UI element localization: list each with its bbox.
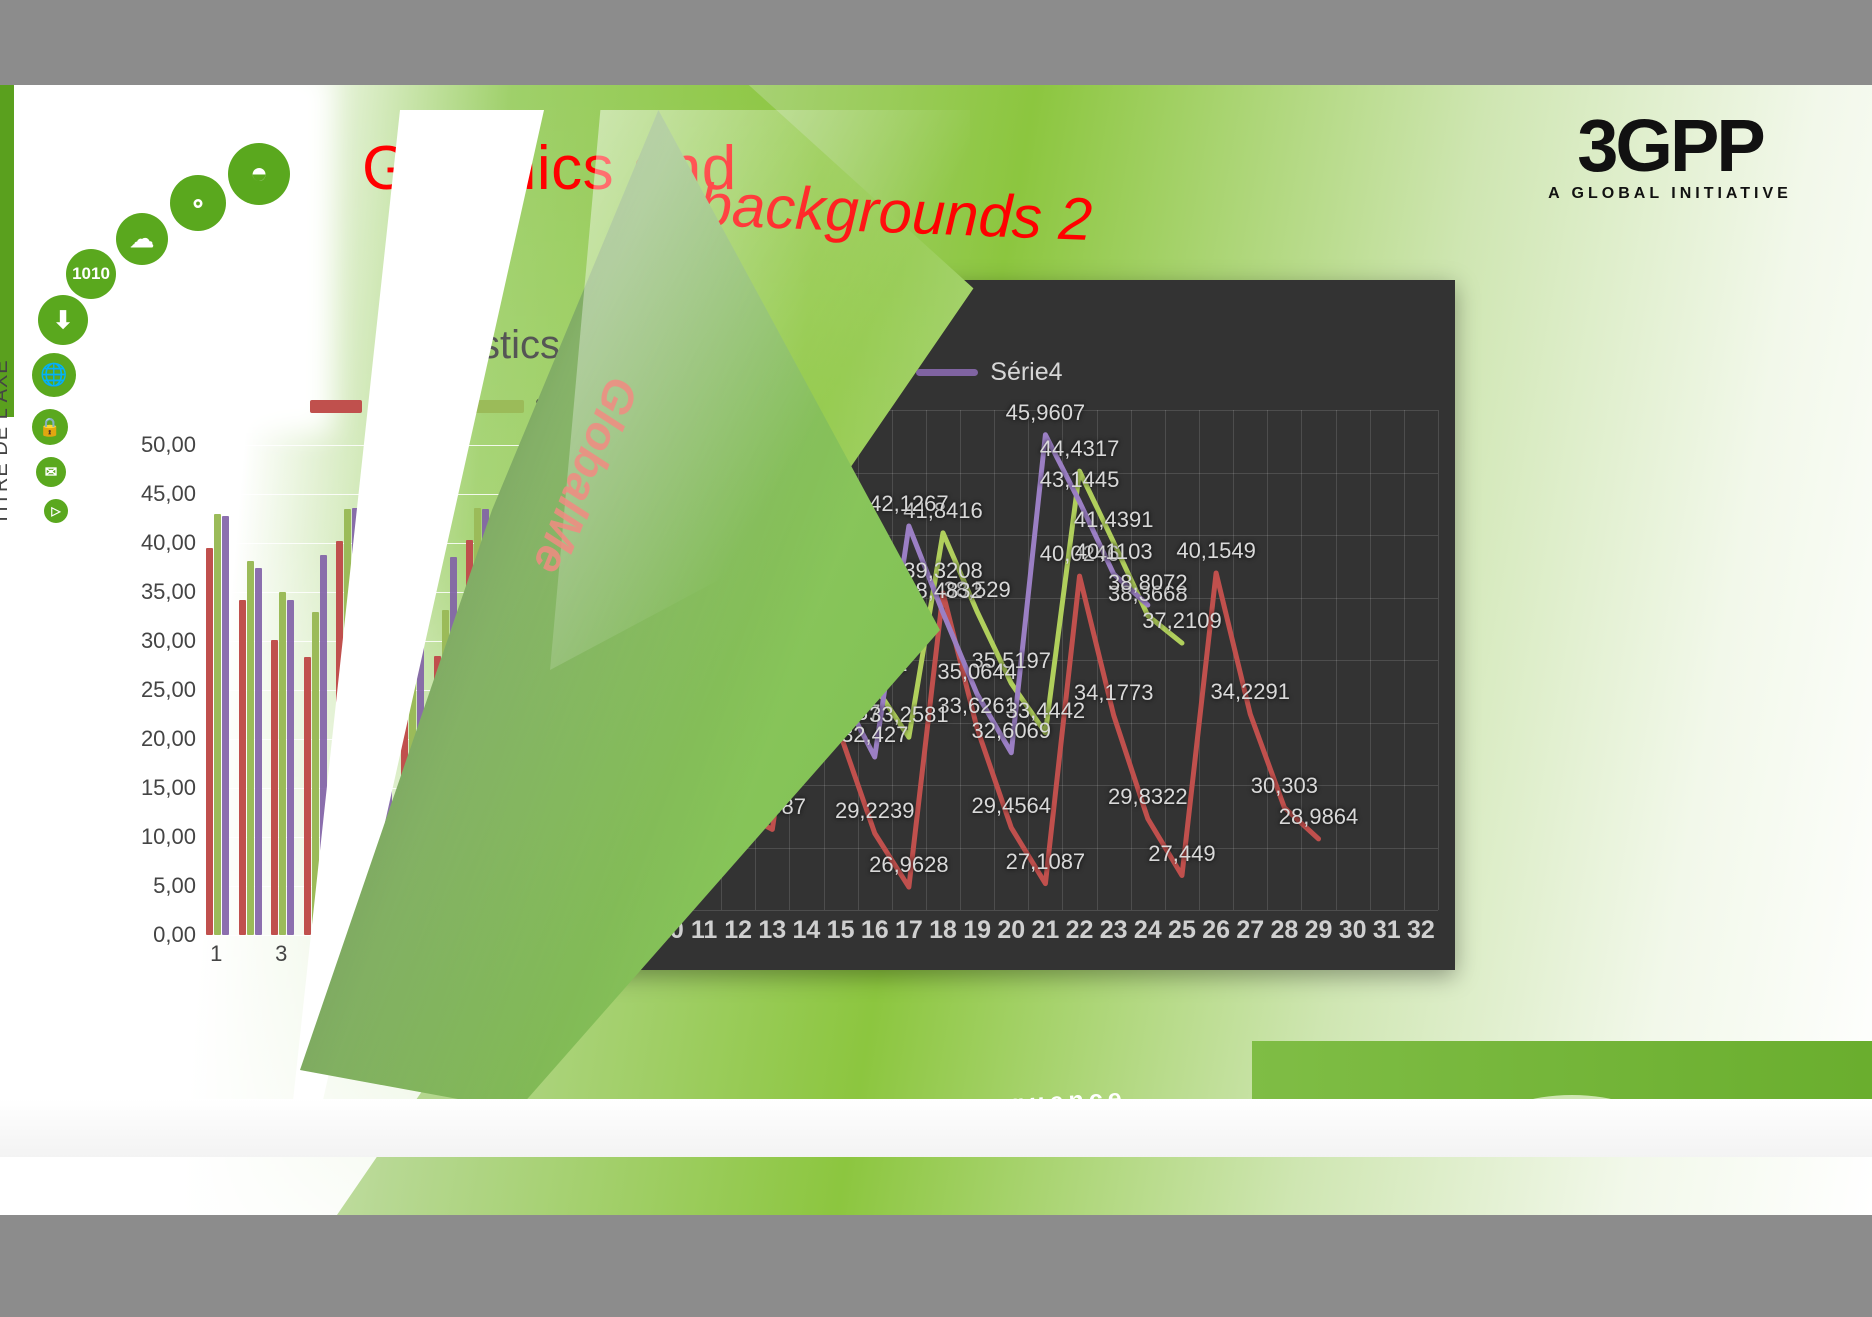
chart-bar xyxy=(336,541,343,935)
chart-bar xyxy=(466,540,473,935)
dark-chart-x-axis: 4567891011121314151617181920212223242526… xyxy=(448,916,1438,956)
chart-bar xyxy=(417,597,424,935)
chart-bar xyxy=(515,561,522,935)
light-chart-y-tick: 30,00 xyxy=(141,628,196,654)
chart-data-label: 41,4391 xyxy=(1074,507,1154,533)
presentation-slide: ◓ ∘ ☁ 1010 ⬇ 🌐 🔒 ✉ ▷ Statistics Série2 xyxy=(0,85,1872,1215)
chart-bar xyxy=(450,557,457,935)
chart-bar xyxy=(352,508,359,935)
chart-bar xyxy=(531,632,538,935)
chart-bar xyxy=(271,640,278,935)
chart-bar xyxy=(377,559,384,935)
light-chart-y-tick: 45,00 xyxy=(141,481,196,507)
chart-bar xyxy=(222,516,229,935)
mail-icon: ✉ xyxy=(36,457,66,487)
chart-data-label: 29,8322 xyxy=(1108,784,1188,810)
legend-label-serie2: Série2 xyxy=(372,393,438,420)
dark-chart-x-tick: 10 xyxy=(656,916,684,945)
dark-chart-x-tick: 21 xyxy=(1032,916,1060,945)
dark-chart-x-tick: 18 xyxy=(929,916,957,945)
light-chart-y-tick: 35,00 xyxy=(141,579,196,605)
wifi-icon: ◓ xyxy=(228,143,290,205)
chart-data-label: 40,1103 xyxy=(1075,539,1153,565)
chart-bar xyxy=(499,592,506,935)
chart-bar xyxy=(206,548,213,935)
dark-chart-x-tick: 25 xyxy=(1168,916,1196,945)
chart-data-label: 35,1907 xyxy=(801,656,881,682)
legend-label-serie3: Série3 xyxy=(534,393,600,420)
dark-chart-x-tick: 12 xyxy=(724,916,752,945)
legend-item-serie4 xyxy=(635,402,687,412)
chart-bar xyxy=(247,561,254,935)
chart-bar xyxy=(312,612,319,935)
chart-bar xyxy=(304,657,311,935)
chart-bar xyxy=(344,509,351,935)
legend-swatch-serie3 xyxy=(472,400,524,413)
chart-bar xyxy=(279,592,286,935)
share-icon: ∘ xyxy=(170,175,226,231)
chart-data-label: 44,4317 xyxy=(1040,436,1120,462)
dark-chart-x-tick: 31 xyxy=(1373,916,1401,945)
screenshot-stage: ◓ ∘ ☁ 1010 ⬇ 🌐 🔒 ✉ ▷ Statistics Série2 xyxy=(0,0,1872,1317)
legend-label-serie4: Série4 xyxy=(990,358,1062,387)
chart-bar xyxy=(539,589,546,935)
light-chart-title: Statistics xyxy=(400,323,560,368)
chart-bar xyxy=(507,558,514,935)
chart-data-label: 35,0644 xyxy=(937,659,1017,685)
chart-bar xyxy=(434,656,441,935)
light-chart-y-tick: 40,00 xyxy=(141,530,196,556)
dark-chart-x-tick: 23 xyxy=(1100,916,1128,945)
chart-data-label: 34,2291 xyxy=(1210,679,1290,705)
dark-chart-x-tick: 30 xyxy=(1339,916,1367,945)
dark-chart-x-tick: 7 xyxy=(561,916,575,945)
chart-data-label: 30,303 xyxy=(1251,773,1318,799)
chart-data-label: 32,341 xyxy=(705,724,772,750)
cloud-icon: ☁ xyxy=(116,213,168,265)
chart-bar xyxy=(239,600,246,935)
light-chart-y-tick: 15,00 xyxy=(141,775,196,801)
send-icon: ▷ xyxy=(44,499,68,523)
download-icon: ⬇ xyxy=(38,295,88,345)
chart-bar xyxy=(385,563,392,935)
gridline xyxy=(1438,410,1439,910)
slide-footer: 3GPP SA4- 2020 Scr een content source se… xyxy=(0,1099,1872,1157)
chart-data-label: 45,9607 xyxy=(1006,400,1086,426)
light-chart-x-tick: 7 xyxy=(405,941,417,967)
dark-chart-x-tick: 29 xyxy=(1305,916,1333,945)
chart-data-label: 38,8072 xyxy=(1108,570,1188,596)
dark-chart-x-tick: 19 xyxy=(963,916,991,945)
chart-bar xyxy=(369,597,376,935)
chart-data-label: 42,1267 xyxy=(869,491,949,517)
dark-chart-x-tick: 26 xyxy=(1202,916,1230,945)
light-chart-legend: Série2 Série3 xyxy=(310,393,687,420)
binary-icon: 1010 xyxy=(66,249,116,299)
chart-data-label: 38,4832 xyxy=(903,578,983,604)
dark-chart-x-tick: 14 xyxy=(793,916,821,945)
chart-data-label: 37,2109 xyxy=(1142,608,1222,634)
legend-swatch-serie2 xyxy=(310,400,362,413)
lock-icon: 🔒 xyxy=(32,409,68,445)
chart-bar xyxy=(255,568,262,936)
chart-data-label: 32,427 xyxy=(841,722,908,748)
chart-data-label: 38,5318 xyxy=(767,577,847,603)
legend-item-serie4: Série4 xyxy=(916,358,1062,387)
light-chart-y-tick: 20,00 xyxy=(141,726,196,752)
logo-wordmark: 3GPP xyxy=(1510,107,1830,185)
gridline xyxy=(448,910,1438,911)
dark-chart-x-tick: 9 xyxy=(629,916,643,945)
footer-right-band xyxy=(1252,1041,1872,1099)
chart-bar xyxy=(547,602,554,935)
light-chart-y-tick: 25,00 xyxy=(141,677,196,703)
dark-chart-x-tick: 16 xyxy=(861,916,889,945)
chart-bar xyxy=(409,590,416,935)
3gpp-logo: 3GPP A GLOBAL INITIATIVE xyxy=(1510,107,1830,267)
legend-item-serie3: Série3 xyxy=(472,393,600,420)
dark-chart-x-tick: 17 xyxy=(895,916,923,945)
light-chart-y-tick: 0,00 xyxy=(153,922,196,948)
chart-bar xyxy=(442,610,449,935)
chart-bar xyxy=(320,555,327,935)
chart-bar xyxy=(474,508,481,935)
dark-chart-x-tick: 27 xyxy=(1236,916,1264,945)
dark-chart-x-tick: 32 xyxy=(1407,916,1435,945)
footer-white-band xyxy=(0,1099,1872,1157)
chart-data-label: 28,9864 xyxy=(1279,804,1359,830)
light-chart-y-axis-title: TITRE DE L'AXE xyxy=(0,359,13,525)
chart-data-label: 26,9628 xyxy=(869,852,949,878)
legend-swatch-serie4 xyxy=(916,369,978,376)
dark-chart-x-tick: 15 xyxy=(827,916,855,945)
chart-data-label: 29,2239 xyxy=(835,798,915,824)
slide-title-part1: Graphics and xyxy=(362,133,737,204)
chart-data-label: 29,387 xyxy=(739,794,806,820)
light-chart-x-tick: 3 xyxy=(275,941,287,967)
legend-item-serie2: Série2 xyxy=(310,393,438,420)
dark-chart-x-tick: 24 xyxy=(1134,916,1162,945)
chart-bar xyxy=(401,635,408,935)
light-chart-x-tick: 1 xyxy=(210,941,222,967)
globe-icon: 🌐 xyxy=(32,353,76,397)
light-chart-y-tick: 10,00 xyxy=(141,824,196,850)
dark-chart-x-tick: 13 xyxy=(758,916,786,945)
dark-chart-x-tick: 11 xyxy=(691,916,717,945)
chart-data-label: 27,1087 xyxy=(1006,849,1086,875)
dark-chart-x-tick: 20 xyxy=(997,916,1025,945)
chart-data-label: 29,4564 xyxy=(972,793,1052,819)
chart-bar xyxy=(287,600,294,935)
chart-bar xyxy=(482,509,489,935)
dark-chart-x-tick: 28 xyxy=(1270,916,1298,945)
dark-chart-x-tick: 22 xyxy=(1066,916,1094,945)
legend-swatch-serie4 xyxy=(635,402,687,412)
logo-tagline: A GLOBAL INITIATIVE xyxy=(1510,185,1830,203)
light-chart-x-tick: 5 xyxy=(340,941,352,967)
light-chart-y-tick: 5,00 xyxy=(153,873,196,899)
chart-bar xyxy=(214,514,221,935)
chart-data-label: 27,449 xyxy=(1148,841,1215,867)
chart-data-label: 34,1773 xyxy=(1074,680,1154,706)
chart-data-label: 40,1549 xyxy=(1176,538,1256,564)
light-chart-y-axis: 50,0045,0040,0035,0030,0025,0020,0015,00… xyxy=(122,445,196,935)
dark-chart-x-tick: 8 xyxy=(595,916,609,945)
light-chart-y-tick: 50,00 xyxy=(141,432,196,458)
chart-data-label: 32,6069 xyxy=(972,718,1052,744)
chart-data-label: 43,1445 xyxy=(1040,467,1120,493)
